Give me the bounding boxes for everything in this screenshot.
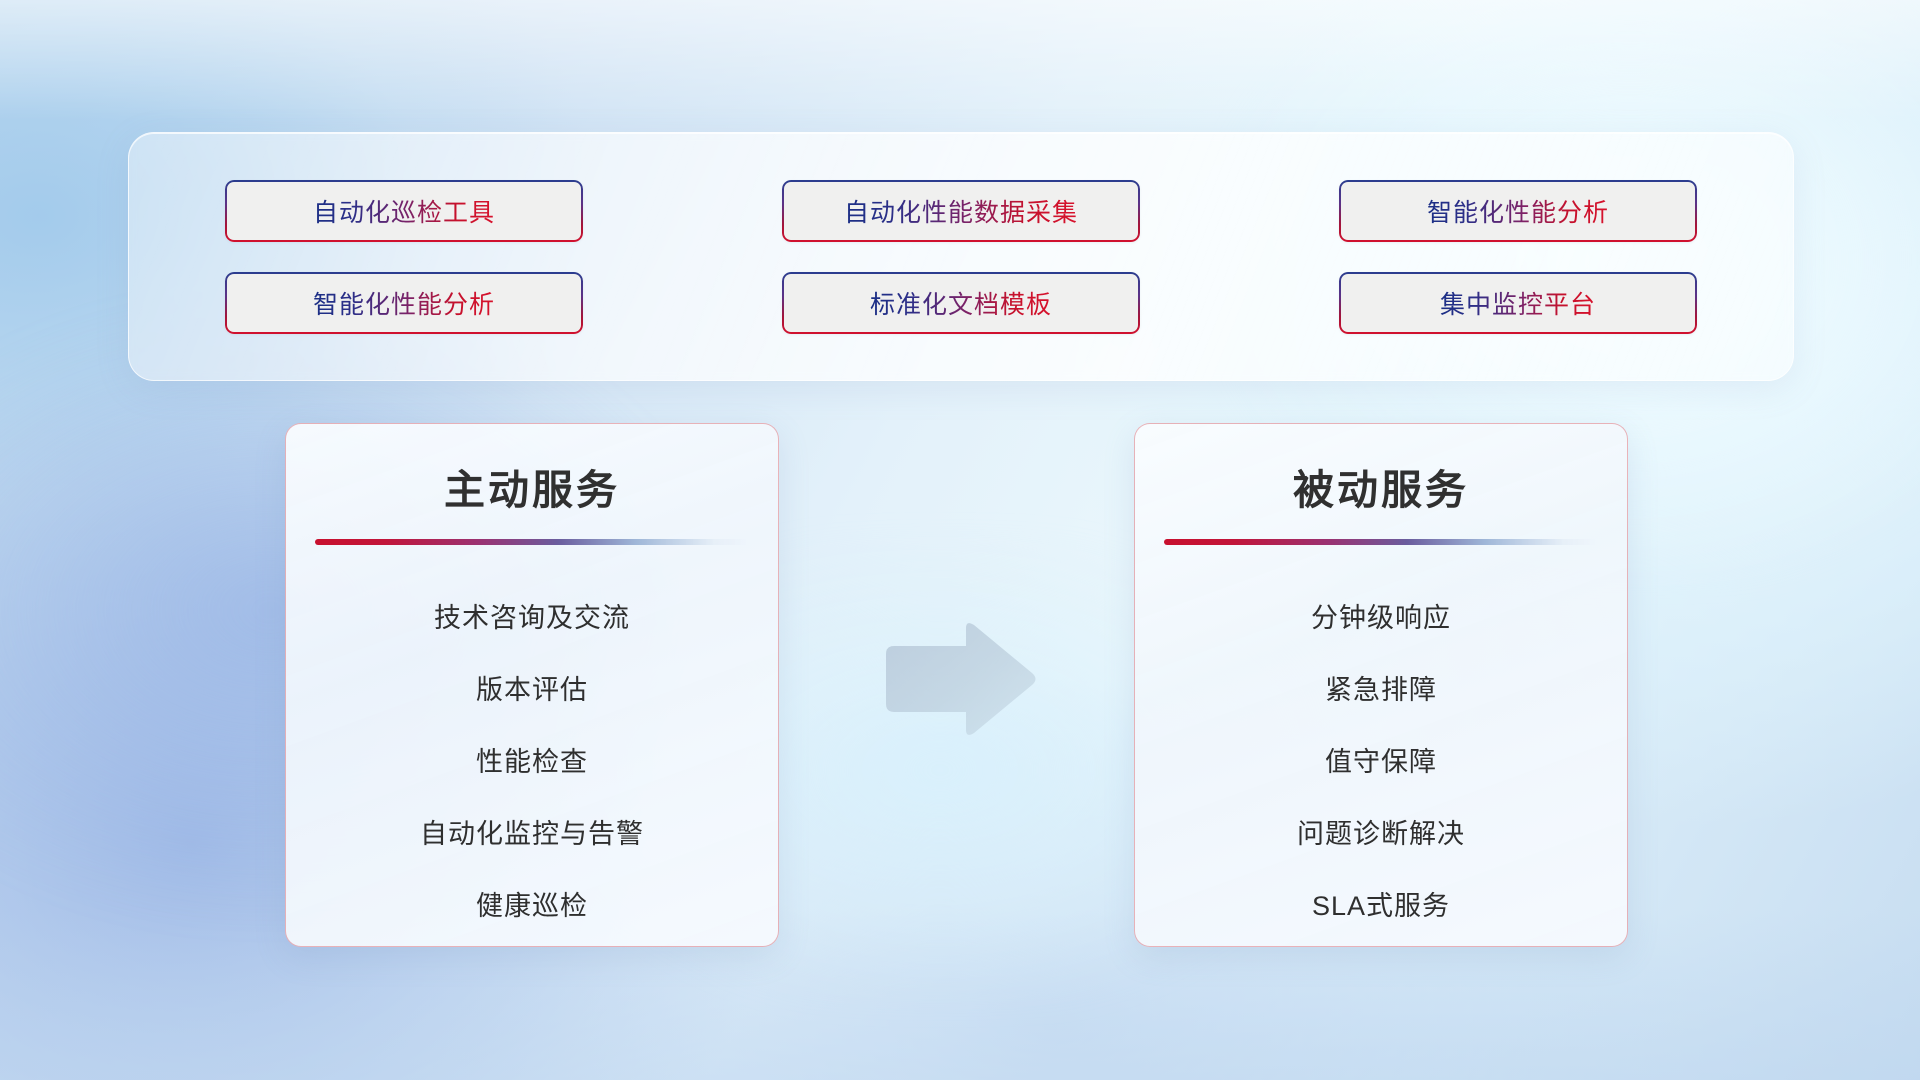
capability-chip-label: 智能化性能分析 bbox=[1427, 193, 1609, 229]
service-card-reactive: 被动服务 分钟级响应 紧急排障 值守保障 问题诊断解决 SLA式服务 bbox=[1134, 423, 1628, 947]
service-card-item-list: 技术咨询及交流 版本评估 性能检查 自动化监控与告警 健康巡检 bbox=[286, 579, 778, 939]
service-list-item[interactable]: 性能检查 bbox=[476, 723, 588, 795]
service-card-title: 主动服务 bbox=[444, 456, 620, 516]
capability-chip-label: 智能化性能分析 bbox=[313, 285, 495, 321]
capability-chip-automated-performance-data-collection[interactable]: 自动化性能数据采集 bbox=[782, 180, 1140, 242]
service-card-item-list: 分钟级响应 紧急排障 值守保障 问题诊断解决 SLA式服务 bbox=[1135, 579, 1627, 939]
capability-row-2: 智能化性能分析 标准化文档模板 集中监控平台 bbox=[225, 272, 1697, 334]
service-list-item[interactable]: SLA式服务 bbox=[1312, 867, 1450, 939]
service-card-divider bbox=[1164, 539, 1598, 545]
service-list-item[interactable]: 版本评估 bbox=[476, 651, 588, 723]
capability-panel: 自动化巡检工具 自动化性能数据采集 智能化性能分析 智能化性能分析 标准化文档模… bbox=[128, 132, 1794, 381]
capability-chip-automated-inspection-tool[interactable]: 自动化巡检工具 bbox=[225, 180, 583, 242]
capability-chip-label: 标准化文档模板 bbox=[870, 285, 1052, 321]
capability-chip-label: 自动化巡检工具 bbox=[313, 193, 495, 229]
capability-chip-intelligent-performance-analysis-2[interactable]: 智能化性能分析 bbox=[225, 272, 583, 334]
service-list-item[interactable]: 紧急排障 bbox=[1325, 651, 1437, 723]
service-card-title: 被动服务 bbox=[1293, 456, 1469, 516]
service-list-item[interactable]: 问题诊断解决 bbox=[1297, 795, 1465, 867]
capability-chip-label: 自动化性能数据采集 bbox=[844, 193, 1078, 229]
service-list-item[interactable]: 技术咨询及交流 bbox=[434, 579, 630, 651]
service-card-proactive: 主动服务 技术咨询及交流 版本评估 性能检查 自动化监控与告警 健康巡检 bbox=[285, 423, 779, 947]
service-card-divider bbox=[315, 539, 749, 545]
capability-chip-intelligent-performance-analysis[interactable]: 智能化性能分析 bbox=[1339, 180, 1697, 242]
arrow-right-icon bbox=[880, 620, 1040, 738]
service-list-item[interactable]: 自动化监控与告警 bbox=[420, 795, 644, 867]
service-list-item[interactable]: 健康巡检 bbox=[476, 867, 588, 939]
service-list-item[interactable]: 分钟级响应 bbox=[1311, 579, 1451, 651]
background-top-wash bbox=[0, 0, 1920, 120]
capability-chip-standardized-document-template[interactable]: 标准化文档模板 bbox=[782, 272, 1140, 334]
capability-row-1: 自动化巡检工具 自动化性能数据采集 智能化性能分析 bbox=[225, 180, 1697, 242]
capability-chip-centralized-monitoring-platform[interactable]: 集中监控平台 bbox=[1339, 272, 1697, 334]
service-list-item[interactable]: 值守保障 bbox=[1325, 723, 1437, 795]
capability-chip-label: 集中监控平台 bbox=[1440, 285, 1596, 321]
